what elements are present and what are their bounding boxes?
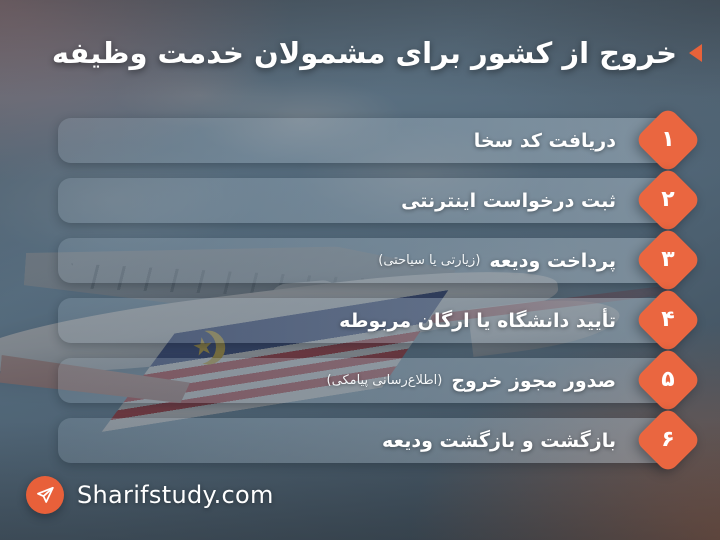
step-number-badge: ۲ <box>634 166 702 234</box>
step-number: ۱ <box>644 116 692 164</box>
infographic-canvas: خروج از کشور برای مشمولان خدمت وظیفه دری… <box>0 0 720 540</box>
list-item[interactable]: صدور مجوز خروج (اطلاع‌رسانی پیامکی) ۵ <box>18 358 702 403</box>
step-note: (زیارتی یا سیاحتی) <box>378 253 480 268</box>
step-number-badge: ۴ <box>634 286 702 354</box>
triangle-left-icon <box>689 44 702 62</box>
step-number: ۶ <box>644 416 692 464</box>
step-pill[interactable]: بازگشت و بازگشت ودیعه <box>58 418 678 463</box>
page-title-text: خروج از کشور برای مشمولان خدمت وظیفه <box>52 36 677 70</box>
page-title: خروج از کشور برای مشمولان خدمت وظیفه <box>18 36 702 70</box>
list-item[interactable]: پرداخت ودیعه (زیارتی یا سیاحتی) ۳ <box>18 238 702 283</box>
step-number: ۲ <box>644 176 692 224</box>
step-label: دریافت کد سخا <box>474 130 616 152</box>
footer-brand-text: Sharifstudy.com <box>77 481 274 509</box>
send-paper-plane-icon <box>26 476 64 514</box>
footer-brand[interactable]: Sharifstudy.com <box>26 476 274 514</box>
step-number-badge: ۶ <box>634 406 702 474</box>
step-number: ۵ <box>644 356 692 404</box>
step-number-badge: ۵ <box>634 346 702 414</box>
step-note: (اطلاع‌رسانی پیامکی) <box>327 373 443 388</box>
list-item[interactable]: تأیید دانشگاه یا ارگان مربوطه ۴ <box>18 298 702 343</box>
step-number: ۴ <box>644 296 692 344</box>
step-pill[interactable]: دریافت کد سخا <box>58 118 678 163</box>
step-number: ۳ <box>644 236 692 284</box>
step-pill[interactable]: پرداخت ودیعه (زیارتی یا سیاحتی) <box>58 238 678 283</box>
step-label: بازگشت و بازگشت ودیعه <box>382 430 616 452</box>
step-pill[interactable]: ثبت درخواست اینترنتی <box>58 178 678 223</box>
content-layer: خروج از کشور برای مشمولان خدمت وظیفه دری… <box>0 0 720 540</box>
steps-list: دریافت کد سخا ۱ ثبت درخواست اینترنتی ۲ <box>18 118 702 478</box>
list-item[interactable]: دریافت کد سخا ۱ <box>18 118 702 163</box>
step-pill[interactable]: تأیید دانشگاه یا ارگان مربوطه <box>58 298 678 343</box>
step-label: صدور مجوز خروج <box>451 370 616 392</box>
step-label: ثبت درخواست اینترنتی <box>401 190 616 212</box>
step-label: تأیید دانشگاه یا ارگان مربوطه <box>339 310 616 332</box>
step-label: پرداخت ودیعه <box>489 250 616 272</box>
list-item[interactable]: بازگشت و بازگشت ودیعه ۶ <box>18 418 702 463</box>
step-pill[interactable]: صدور مجوز خروج (اطلاع‌رسانی پیامکی) <box>58 358 678 403</box>
step-number-badge: ۱ <box>634 106 702 174</box>
list-item[interactable]: ثبت درخواست اینترنتی ۲ <box>18 178 702 223</box>
step-number-badge: ۳ <box>634 226 702 294</box>
